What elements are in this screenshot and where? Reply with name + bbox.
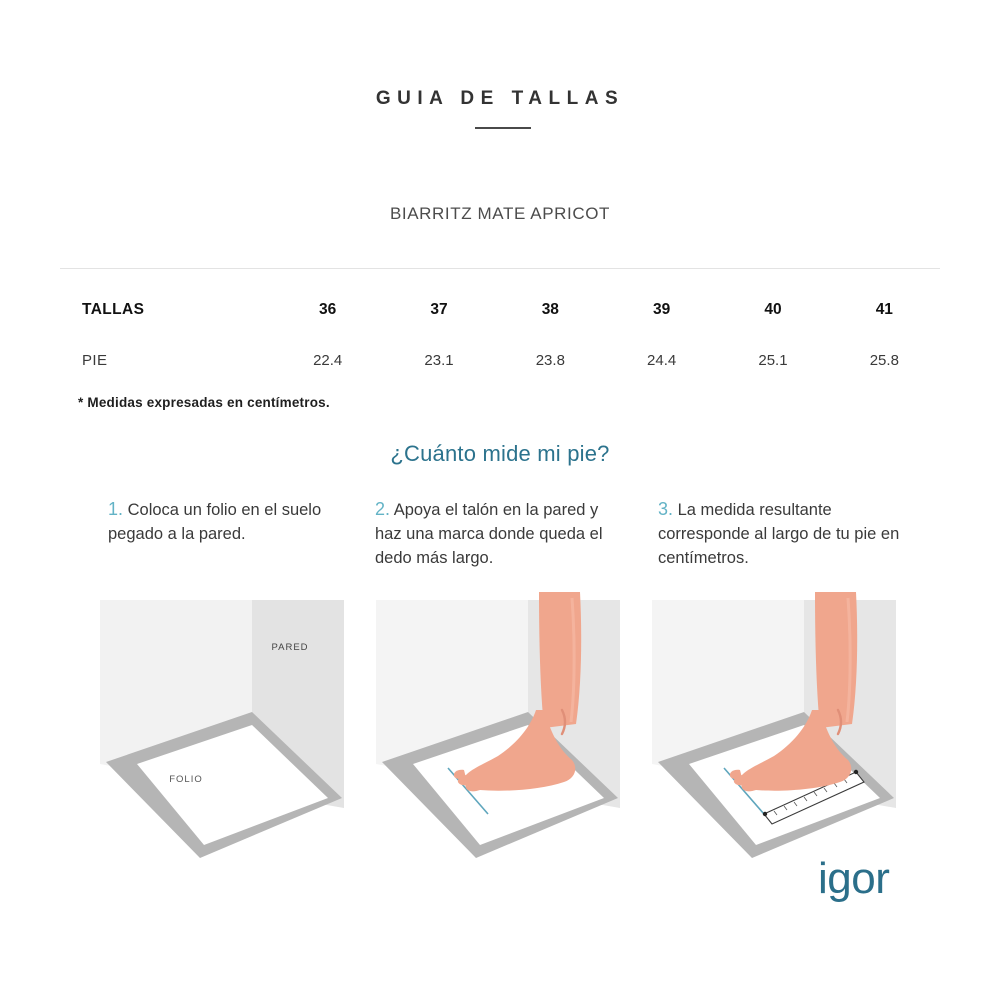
measure-step-2: 2. Apoya el talón en la pared y haz una … (353, 496, 646, 571)
illustration-step-3 (652, 592, 902, 858)
step-number-1: 1. (108, 499, 123, 519)
size-cell-2: 38 (495, 284, 606, 335)
illustration-step-1: PARED FOLIO (100, 592, 350, 858)
foot-length-cell-5: 25.8 (829, 335, 940, 386)
page-title: GUIA DE TALLAS (0, 88, 1000, 110)
row-label-tallas: TALLAS (60, 284, 272, 335)
title-underline-divider (475, 127, 531, 129)
table-top-divider (60, 268, 940, 269)
step-text-1: Coloca un folio en el suelo pegado a la … (108, 501, 321, 543)
table-row-foot-length: PIE 22.4 23.1 23.8 24.4 25.1 25.8 (60, 335, 940, 386)
measure-step-3: 3. La medida resultante corresponde al l… (646, 496, 939, 571)
size-cell-5: 41 (829, 284, 940, 335)
foot-length-cell-1: 23.1 (383, 335, 494, 386)
measure-steps-list: 1. Coloca un folio en el suelo pegado a … (60, 496, 940, 571)
step-text-2: Apoya el talón en la pared y haz una mar… (375, 501, 603, 567)
foot-length-cell-4: 25.1 (717, 335, 828, 386)
illustration-panels: PARED FOLIO (0, 592, 1000, 864)
paper-label-text: FOLIO (169, 774, 203, 785)
measure-step-1: 1. Coloca un folio en el suelo pegado a … (60, 496, 353, 571)
step-text-3: La medida resultante corresponde al larg… (658, 501, 899, 567)
illustration-step-2 (376, 592, 626, 858)
foot-length-cell-2: 23.8 (495, 335, 606, 386)
size-cell-0: 36 (272, 284, 383, 335)
table-footnote: * Medidas expresadas en centímetros. (78, 395, 330, 410)
row-label-pie: PIE (60, 335, 272, 386)
measure-section-heading: ¿Cuánto mide mi pie? (0, 441, 1000, 467)
wall-label-text: PARED (271, 642, 308, 653)
foot-length-cell-0: 22.4 (272, 335, 383, 386)
step-number-2: 2. (375, 499, 390, 519)
igor-logo: igor (818, 857, 889, 901)
product-name: BIARRITZ MATE APRICOT (0, 204, 1000, 224)
step-number-3: 3. (658, 499, 673, 519)
size-guide-page: GUIA DE TALLAS BIARRITZ MATE APRICOT TAL… (0, 0, 1000, 1000)
table-row-sizes: TALLAS 36 37 38 39 40 41 (60, 284, 940, 335)
size-table: TALLAS 36 37 38 39 40 41 PIE 22.4 23.1 2… (60, 284, 940, 386)
size-cell-3: 39 (606, 284, 717, 335)
foot-length-cell-3: 24.4 (606, 335, 717, 386)
size-cell-4: 40 (717, 284, 828, 335)
size-cell-1: 37 (383, 284, 494, 335)
